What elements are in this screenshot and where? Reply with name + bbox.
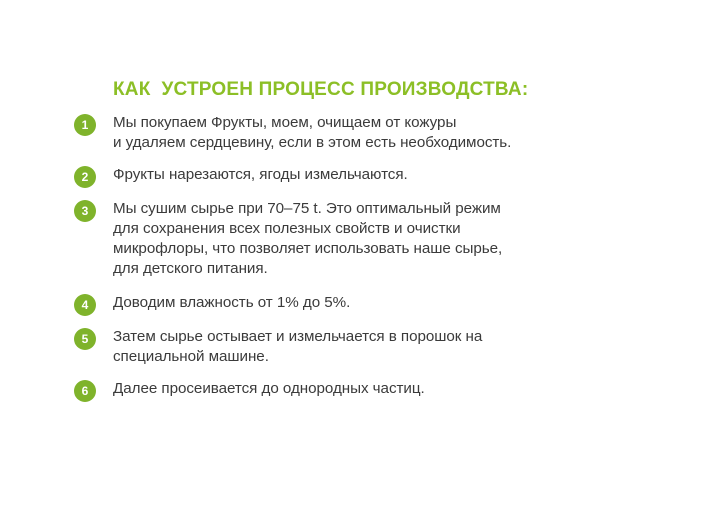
step-number-badge-6: 6: [74, 380, 96, 402]
list-item: 3 Мы сушим сырье при 70–75 t. Это оптима…: [74, 199, 674, 279]
step-text-3: Мы сушим сырье при 70–75 t. Это оптималь…: [113, 199, 674, 279]
step-text-2: Фрукты нарезаются, ягоды измельчаются.: [113, 165, 674, 185]
list-item: 5 Затем сырье остывает и измельчается в …: [74, 327, 674, 367]
slide-canvas: КАК УСТРОЕН ПРОЦЕСС ПРОИЗВОДСТВА: 1 Мы п…: [0, 0, 701, 512]
step-number-badge-4: 4: [74, 294, 96, 316]
step-text-4: Доводим влажность от 1% до 5%.: [113, 293, 674, 313]
step-number-badge-1: 1: [74, 114, 96, 136]
step-number-badge-2: 2: [74, 166, 96, 188]
step-number-badge-3: 3: [74, 200, 96, 222]
step-text-6: Далее просеивается до однородных частиц.: [113, 379, 674, 399]
list-item: 2 Фрукты нарезаются, ягоды измельчаются.: [74, 165, 674, 187]
page-title: КАК УСТРОЕН ПРОЦЕСС ПРОИЗВОДСТВА:: [113, 78, 674, 102]
step-number-badge-5: 5: [74, 328, 96, 350]
list-item: 6 Далее просеивается до однородных части…: [74, 379, 674, 401]
process-steps-list: 1 Мы покупаем Фрукты, моем, очищаем от к…: [74, 113, 674, 401]
list-item: 1 Мы покупаем Фрукты, моем, очищаем от к…: [74, 113, 674, 153]
list-item: 4 Доводим влажность от 1% до 5%.: [74, 293, 674, 315]
step-text-1: Мы покупаем Фрукты, моем, очищаем от кож…: [113, 113, 674, 153]
content-block: КАК УСТРОЕН ПРОЦЕСС ПРОИЗВОДСТВА: 1 Мы п…: [74, 78, 674, 401]
step-text-5: Затем сырье остывает и измельчается в по…: [113, 327, 674, 367]
